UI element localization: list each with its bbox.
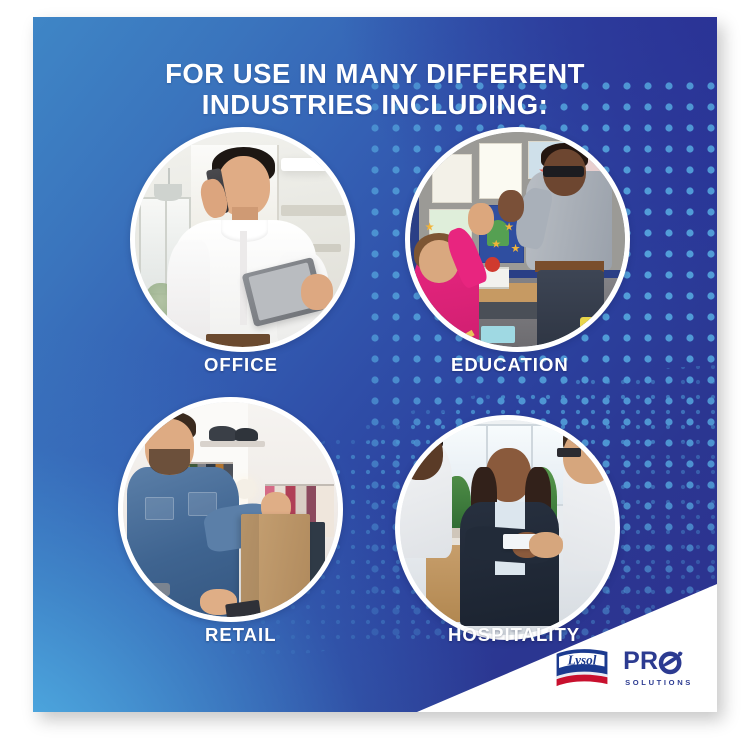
headline-line-1: FOR USE IN MANY DIFFERENT	[165, 58, 585, 89]
education-photo	[410, 132, 625, 347]
category-label-office: OFFICE	[204, 354, 278, 376]
photo-circle-office	[130, 127, 355, 352]
lysol-flag-logo: Lysol	[552, 646, 612, 690]
photo-circle-education	[405, 127, 630, 352]
poster-canvas: FOR USE IN MANY DIFFERENT INDUSTRIES INC…	[0, 0, 750, 750]
pro-word: PR	[623, 649, 693, 674]
page-title: FOR USE IN MANY DIFFERENT INDUSTRIES INC…	[33, 59, 717, 120]
svg-text:Lysol: Lysol	[567, 653, 597, 668]
category-label-education: EDUCATION	[451, 354, 569, 376]
solutions-word: SOLUTIONS	[623, 678, 693, 687]
photo-circle-retail	[118, 397, 343, 622]
pro-letters: PR	[623, 649, 658, 674]
pro-solutions-wordmark: PR SOLUTIONS	[623, 649, 693, 687]
marketing-card: FOR USE IN MANY DIFFERENT INDUSTRIES INC…	[33, 17, 717, 712]
pro-o-letter	[658, 649, 684, 674]
brand-logo-lockup: Lysol PR SOLUTIONS	[552, 646, 693, 690]
category-label-hospitality: HOSPITALITY	[448, 624, 580, 646]
headline-line-2: INDUSTRIES INCLUDING:	[33, 90, 717, 121]
retail-photo	[123, 402, 338, 617]
leaf-swoosh-icon	[658, 649, 684, 675]
category-label-retail: RETAIL	[205, 624, 277, 646]
hospitality-photo	[400, 420, 615, 635]
photo-circle-hospitality	[395, 415, 620, 640]
office-photo	[135, 132, 350, 347]
